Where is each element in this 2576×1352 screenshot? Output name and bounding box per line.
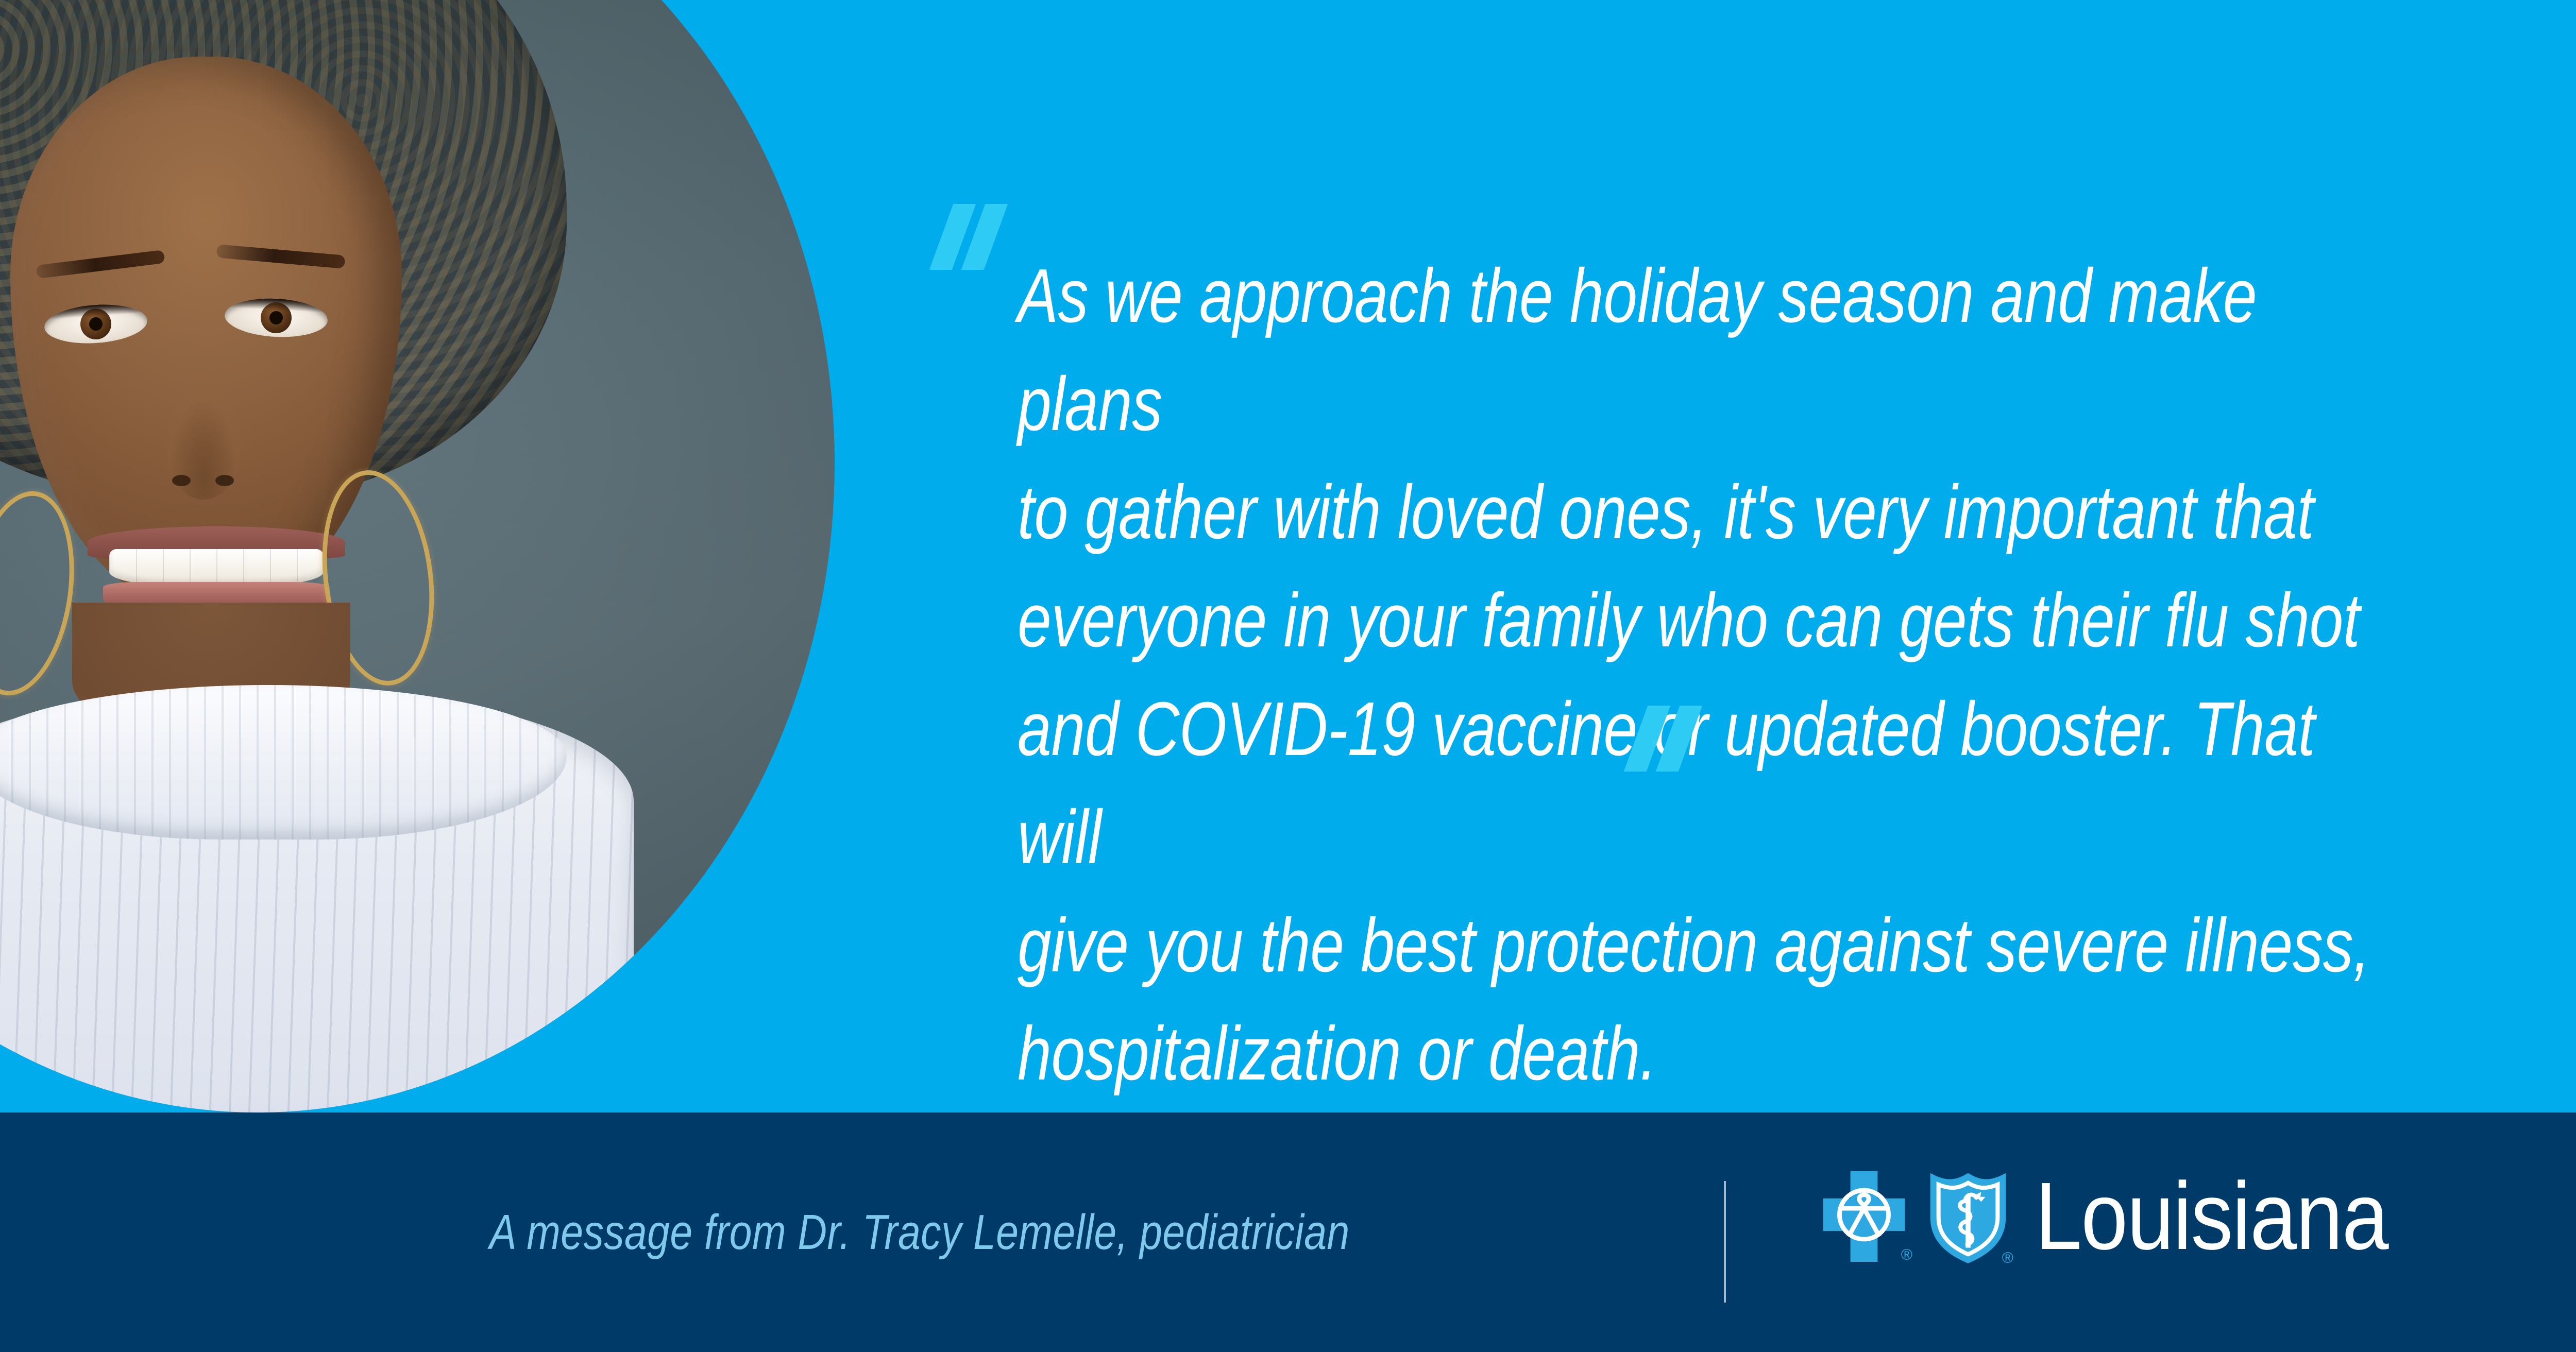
quote-block: As we approach the holiday season and ma… [1018, 242, 2378, 1108]
louisiana-wordmark: Louisiana [2035, 1169, 2388, 1264]
portrait-photo [0, 0, 835, 1113]
nostril-left [172, 475, 191, 486]
cross-registered-mark: ® [1901, 1246, 1912, 1264]
turtleneck-collar [0, 685, 567, 840]
blue-cross-icon: ® [1819, 1171, 1909, 1262]
shield-registered-mark: ® [2002, 1250, 2013, 1267]
teeth [109, 549, 324, 587]
pupil-right [269, 311, 283, 324]
nostril-right [215, 475, 234, 486]
quote-text: As we approach the holiday season and ma… [1018, 242, 2378, 1108]
nose [165, 386, 242, 500]
blue-cross-blue-shield-louisiana-logo[interactable]: ® ® Louisiana [1819, 1168, 2436, 1265]
footer-divider [1724, 1181, 1726, 1303]
blue-shield-icon: ® [1926, 1168, 2010, 1265]
advertisement-banner: As we approach the holiday season and ma… [0, 0, 2576, 1352]
portrait-image [0, 0, 835, 1113]
attribution-text: A message from Dr. Tracy Lemelle, pediat… [489, 1204, 1350, 1261]
pupil-left [89, 317, 103, 331]
